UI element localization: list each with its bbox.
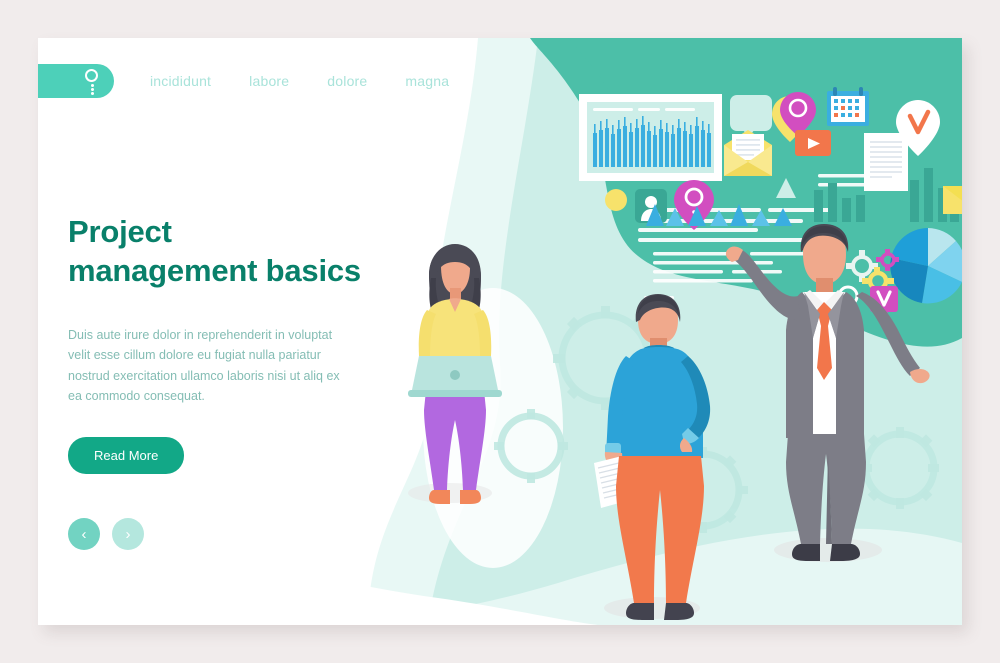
hero-card: incididunt labore dolore magna Project m…: [38, 38, 962, 625]
bar-chart-card: [579, 94, 722, 181]
man-back-view: [594, 294, 710, 620]
main-nav: incididunt labore dolore magna: [38, 64, 487, 98]
hero-copy: Project management basics Duis aute irur…: [68, 213, 398, 550]
page-title: Project management basics: [68, 213, 398, 291]
calendar-icon: [827, 87, 869, 126]
envelope-mail: [724, 130, 772, 176]
woman-with-laptop: [408, 244, 502, 504]
magnifier-dots-logo-icon: [84, 69, 100, 93]
document-page: [864, 133, 908, 191]
page-stage: incididunt labore dolore magna Project m…: [0, 0, 1000, 663]
headline-line-1: Project: [68, 214, 172, 249]
nav-link-incididunt[interactable]: incididunt: [150, 73, 211, 89]
headline-line-2: management basics: [68, 253, 361, 288]
carousel-controls: ‹ ›: [68, 518, 398, 550]
nav-links: incididunt labore dolore magna: [150, 73, 487, 89]
read-more-button[interactable]: Read More: [68, 437, 184, 474]
play-button: [795, 130, 831, 156]
nav-link-magna[interactable]: magna: [405, 73, 449, 89]
logo-button[interactable]: [38, 64, 114, 98]
nav-link-labore[interactable]: labore: [249, 73, 289, 89]
yellow-envelope: [943, 186, 962, 214]
carousel-next-button[interactable]: ›: [112, 518, 144, 550]
yellow-dot: [605, 189, 627, 211]
hero-paragraph: Duis aute irure dolor in reprehenderit i…: [68, 325, 353, 408]
nav-link-dolore[interactable]: dolore: [327, 73, 367, 89]
carousel-prev-button[interactable]: ‹: [68, 518, 100, 550]
triangle-row: [646, 178, 796, 226]
pie-chart: [890, 228, 962, 303]
